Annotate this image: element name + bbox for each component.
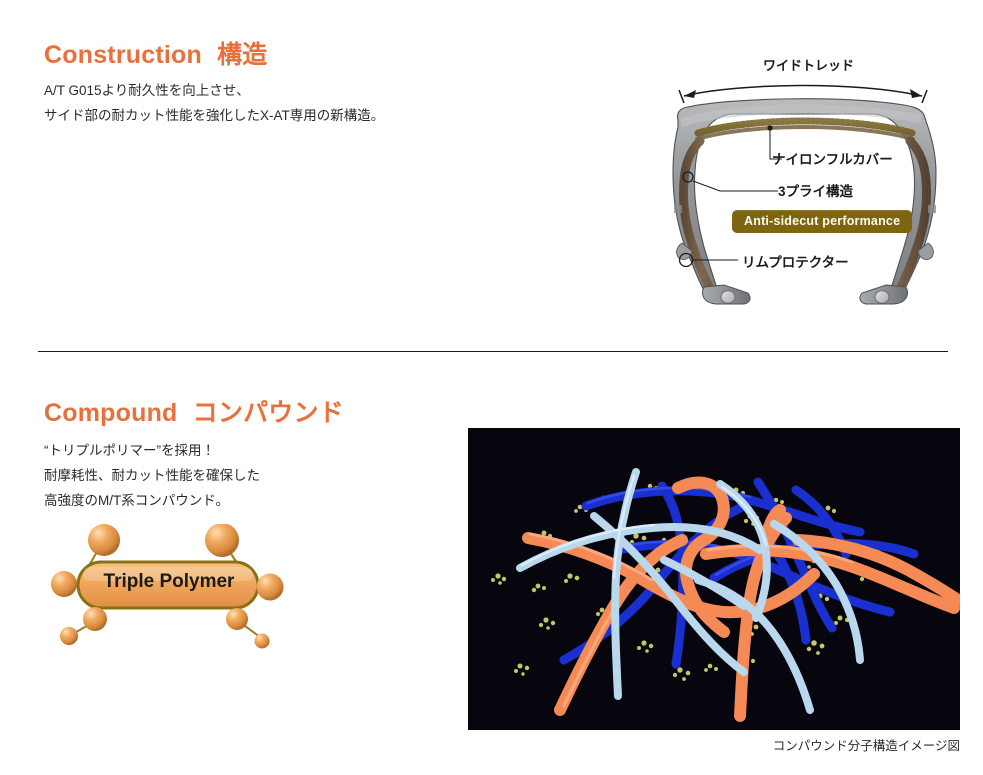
molecule-node: [255, 634, 270, 649]
molecule-node: [88, 524, 120, 556]
compound-body: “トリプルポリマー”を採用！ 耐摩耗性、耐カット性能を確保した 高強度のM/T系…: [44, 438, 260, 513]
sidewall-notch-left: [674, 205, 682, 213]
construction-heading-en: Construction: [44, 41, 202, 69]
section-divider: [38, 351, 948, 352]
construction-heading-jp: 構造: [217, 41, 267, 69]
compound-body-line-1: “トリプルポリマー”を採用！: [44, 438, 260, 463]
compound-heading-jp: コンパウンド: [193, 399, 344, 427]
wide-tread-label: ワイドトレッド: [763, 55, 854, 74]
construction-body-line-2: サイド部の耐カット性能を強化したX-AT専用の新構造。: [44, 103, 384, 128]
molecule-node: [60, 627, 78, 645]
tire-cross-section-diagram: ワイドトレッド ナイロンフルカバー 3プライ構造 Anti-sidecut pe…: [660, 55, 970, 305]
compound-body-line-2: 耐摩耗性、耐カット性能を確保した: [44, 463, 260, 488]
bead-core-right: [875, 291, 889, 303]
molecule-node: [205, 524, 239, 557]
molecule-node: [51, 571, 77, 597]
nylon-full-cover-label: ナイロンフルカバー: [772, 148, 893, 168]
triple-polymer-graphic: [38, 524, 328, 654]
anti-sidecut-badge: Anti-sidecut performance: [732, 210, 912, 233]
molecule-node: [226, 608, 248, 630]
compound-photo-caption: コンパウンド分子構造イメージ図: [0, 735, 960, 754]
molecule-node: [83, 607, 107, 631]
three-ply-label: 3プライ構造: [778, 180, 853, 200]
compound-structure-svg: [468, 428, 960, 730]
construction-body: A/T G015より耐久性を向上させ、 サイド部の耐カット性能を強化したX-AT…: [44, 78, 384, 128]
compound-heading-en: Compound: [44, 399, 178, 427]
construction-body-line-1: A/T G015より耐久性を向上させ、: [44, 78, 384, 103]
capsule-gloss: [83, 567, 253, 581]
triple-polymer-svg: [38, 524, 328, 654]
sidewall-notch-right: [928, 205, 936, 213]
rim-protector-label: リムプロテクター: [742, 251, 849, 271]
molecule-node: [257, 574, 284, 601]
page-root: Construction 構造 A/T G015より耐久性を向上させ、 サイド部…: [0, 0, 983, 775]
compound-heading: Compound コンパウンド: [44, 393, 344, 429]
compound-structure-image: [468, 428, 960, 730]
compound-body-line-3: 高強度のM/T系コンパウンド。: [44, 488, 260, 513]
construction-heading: Construction 構造: [44, 35, 268, 71]
bead-core-left: [721, 291, 735, 303]
